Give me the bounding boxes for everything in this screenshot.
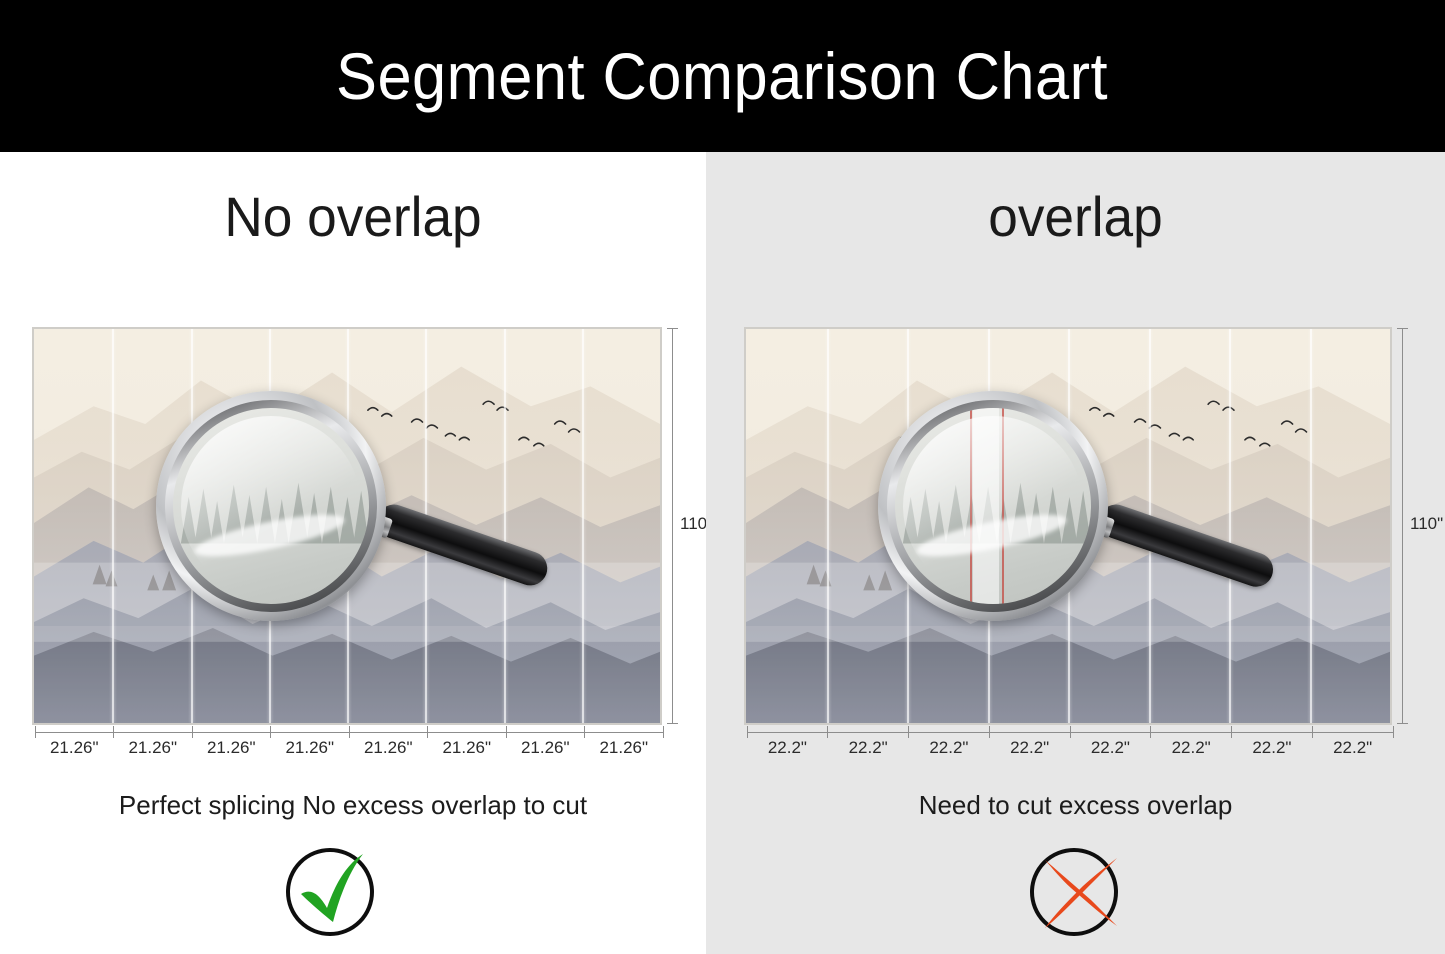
status-check-no-overlap — [275, 842, 385, 942]
height-label-overlap: 110" — [1410, 514, 1443, 534]
caption-overlap: Need to cut excess overlap — [706, 790, 1445, 821]
segment-label: 21.26" — [271, 738, 350, 758]
page-title: Segment Comparison Chart — [337, 38, 1109, 114]
overlap-red-line-right — [1002, 408, 1004, 604]
magnifier-lens — [173, 408, 369, 604]
panel-heading-overlap: overlap — [724, 184, 1426, 249]
segment-label: 21.26" — [349, 738, 428, 758]
segment-label: 21.26" — [192, 738, 271, 758]
mural-no-overlap — [32, 327, 662, 725]
status-cross-overlap — [1021, 842, 1131, 942]
segment-label: 22.2" — [1070, 738, 1151, 758]
magnifier-handle — [372, 500, 551, 590]
panel-no-overlap: No overlap — [0, 152, 706, 954]
mural-overlap — [744, 327, 1392, 725]
segment-label: 22.2" — [1232, 738, 1313, 758]
title-banner: Segment Comparison Chart — [0, 0, 1445, 152]
segment-label: 21.26" — [35, 738, 114, 758]
lens-forest-detail — [173, 424, 369, 546]
check-circle-icon — [275, 842, 385, 942]
magnifier-ring — [156, 391, 386, 621]
magnifier-ring — [878, 391, 1108, 621]
segment-label: 22.2" — [909, 738, 990, 758]
magnifier-glass-overlap — [878, 391, 1318, 631]
magnifier-handle — [1094, 500, 1277, 591]
magnifier-lens — [895, 408, 1091, 604]
magnifier-glass-no-overlap — [156, 391, 586, 631]
comparison-panels: No overlap — [0, 152, 1445, 954]
cross-circle-icon — [1021, 842, 1131, 942]
overlap-band — [973, 408, 998, 604]
panel-heading-no-overlap: No overlap — [18, 184, 689, 249]
segment-label: 22.2" — [747, 738, 828, 758]
overlap-red-line-left — [970, 408, 972, 604]
segment-label: 22.2" — [1312, 738, 1393, 758]
segment-label: 21.26" — [114, 738, 193, 758]
segment-label: 22.2" — [1151, 738, 1232, 758]
caption-no-overlap: Perfect splicing No excess overlap to cu… — [0, 790, 706, 821]
segment-label: 21.26" — [585, 738, 664, 758]
segment-label: 21.26" — [428, 738, 507, 758]
panel-overlap: overlap — [706, 152, 1445, 954]
segment-label: 22.2" — [989, 738, 1070, 758]
segment-label: 21.26" — [506, 738, 585, 758]
mural-frame — [32, 327, 662, 725]
segment-label: 22.2" — [828, 738, 909, 758]
mural-frame — [744, 327, 1392, 725]
